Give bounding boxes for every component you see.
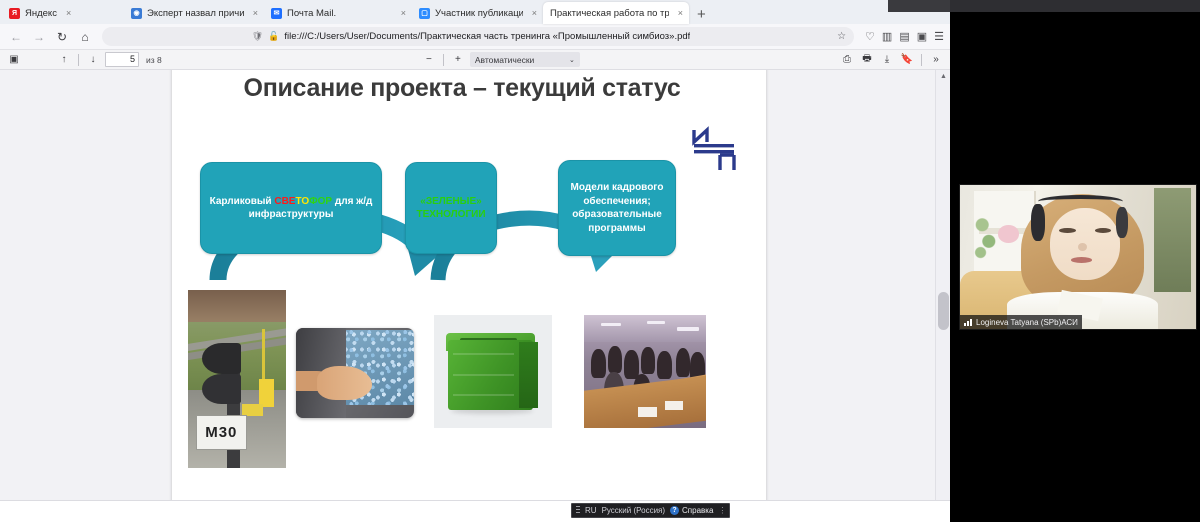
signal-plate-label: М30 [196,415,247,451]
sidebar-icon[interactable]: ▤ [899,30,909,43]
presentation-icon[interactable]: ⎙ [839,52,855,68]
slide-boxes: Карликовый СВЕТОФОР для ж/д инфраструкту… [172,162,766,262]
keyboard-layout-code[interactable]: RU [585,506,597,515]
participant-name-bar: Logineva Tatyana (SPb)АСИ [960,315,1082,329]
box1-part2: СВЕ [274,196,295,207]
scrollbar-thumb[interactable] [938,292,949,330]
browser-tab-zoom[interactable]: ▢ Участник публикации - Zoom × [412,2,543,24]
divider [78,54,79,66]
tools-overflow-icon[interactable]: » [928,52,944,68]
slide-photos: М30 [172,288,766,468]
yandex-icon: Я [9,8,20,19]
tab-label: Практическая работа по тренинг [550,8,669,19]
browser-nav-bar: ← → ↻ ⌂ 🛡 🔓 file:///C:/Users/User/Docume… [0,24,950,50]
tab-close-icon[interactable]: × [401,8,406,18]
library-icon[interactable]: ▥ [882,30,892,43]
url-text: file:///C:/Users/User/Documents/Практиче… [284,31,690,42]
box-green-tech: «ЗЕЛЕНЫЕ» ТЕХНОЛОГИИ [405,162,497,254]
help-label: Справка [682,506,713,515]
tab-label: Почта Mail.ru [287,8,336,19]
box2-text: «ЗЕЛЕНЫЕ» ТЕХНОЛОГИИ [414,195,488,222]
photo-conference-audience [584,315,706,428]
pdf-viewer[interactable]: Описание проекта – текущий статус [0,70,950,522]
news-icon: ◉ [131,8,142,19]
zoom-in-button[interactable]: + [450,52,466,68]
divider [921,54,922,66]
zoom-level-select[interactable]: Автоматически ⌄ [470,52,580,67]
tab-close-icon[interactable]: × [253,8,258,18]
download-icon[interactable]: ⤓ [879,52,895,68]
browser-tab-strip: Я Яндекс × ◉ Эксперт назвал причины рост… [0,0,950,24]
zoom-icon: ▢ [419,8,430,19]
language-bar[interactable]: RU Русский (Россия) ? Справка ⋮ [571,503,730,518]
file-permission-icon: 🔓 [268,31,279,42]
help-button[interactable]: ? Справка [670,506,713,515]
participant-name: Logineva Tatyana (SPb)АСИ [976,318,1078,327]
zoom-out-button[interactable]: − [421,52,437,68]
browser-tab-yandex[interactable]: Я Яндекс × [2,2,124,24]
slide-title: Описание проекта – текущий статус [212,74,712,102]
home-icon[interactable]: ⌂ [75,27,95,47]
language-bar-overflow-icon[interactable]: ⋮ [718,506,725,515]
account-icon[interactable]: ▣ [917,30,927,43]
page-down-icon[interactable]: ↓ [85,52,101,68]
toggle-sidebar-icon[interactable]: ▣ [6,52,22,68]
zoom-video-tile[interactable]: Logineva Tatyana (SPb)АСИ [959,184,1197,330]
address-bar[interactable]: 🛡 🔓 file:///C:/Users/User/Documents/Прак… [102,27,854,46]
box-traffic-light: Карликовый СВЕТОФОР для ж/д инфраструкту… [200,162,382,254]
divider [443,54,444,66]
mail-icon: ✉ [271,8,282,19]
tab-label: Участник публикации - Zoom [435,8,523,19]
bookmark-page-icon[interactable]: 🔖 [899,52,915,68]
box1-part3: ТО [295,196,309,207]
browser-tab-news[interactable]: ◉ Эксперт назвал причины рост × [124,2,264,24]
tracking-shield-icon[interactable]: 🛡 [252,31,263,42]
tab-close-icon[interactable]: × [532,8,537,18]
new-tab-button[interactable]: + [689,7,714,24]
pdf-page: Описание проекта – текущий статус [172,70,766,522]
back-icon[interactable]: ← [6,27,26,47]
zoom-level-value: Автоматически [475,55,534,65]
box-staffing: Модели кадрового обеспечения; образовате… [558,160,676,256]
forward-icon[interactable]: → [29,27,49,47]
help-icon: ? [670,506,679,515]
print-icon[interactable]: 🖶 [859,52,875,68]
window-top-bar-left [888,0,950,12]
box3-text: Модели кадрового обеспечения; образовате… [567,181,667,235]
bottom-strip [0,500,950,522]
signal-strength-icon [964,319,972,326]
screen-root: Я Яндекс × ◉ Эксперт назвал причины рост… [0,0,1200,522]
page-number-input[interactable]: 5 [105,52,139,67]
page-up-icon[interactable]: ↑ [56,52,72,68]
photo-railway-dwarf-signal: М30 [188,290,286,468]
photo-blue-plastic-flakes [296,328,414,418]
reload-icon[interactable]: ↻ [52,27,72,47]
tab-close-icon[interactable]: × [678,8,683,18]
browser-tab-pdf[interactable]: Практическая работа по тренинг × [543,2,689,24]
star-icon[interactable]: ☆ [837,31,846,42]
keyboard-layout-name[interactable]: Русский (Россия) [602,506,665,515]
box1-part4: ФОР [309,196,332,207]
tab-close-icon[interactable]: × [66,8,71,18]
browser-tab-mail[interactable]: ✉ Почта Mail.ru × [264,2,412,24]
page-total-label: из 8 [146,55,162,65]
tab-label: Яндекс [25,8,57,19]
browser-window: Я Яндекс × ◉ Эксперт назвал причины рост… [0,0,950,522]
drag-grip-icon[interactable] [576,506,580,515]
viewer-scrollbar[interactable]: ▲ ▼ [935,70,950,522]
chevron-down-icon: ⌄ [569,56,575,64]
photo-green-plastic-crate [434,315,552,428]
scroll-up-arrow-icon[interactable]: ▲ [936,70,950,83]
menu-icon[interactable]: ☰ [934,30,944,43]
browser-toolbar-icons: ♡ ▥ ▤ ▣ ☰ [861,30,944,43]
box1-part1: Карликовый [210,196,275,207]
tab-label: Эксперт назвал причины рост [147,8,244,19]
pocket-icon[interactable]: ♡ [865,30,875,43]
pdf-toolbar: ▣ ↑ ↓ 5 из 8 − + Автоматически ⌄ ⎙ 🖶 ⤓ 🔖… [0,50,950,70]
window-top-bar-right [950,0,1200,12]
